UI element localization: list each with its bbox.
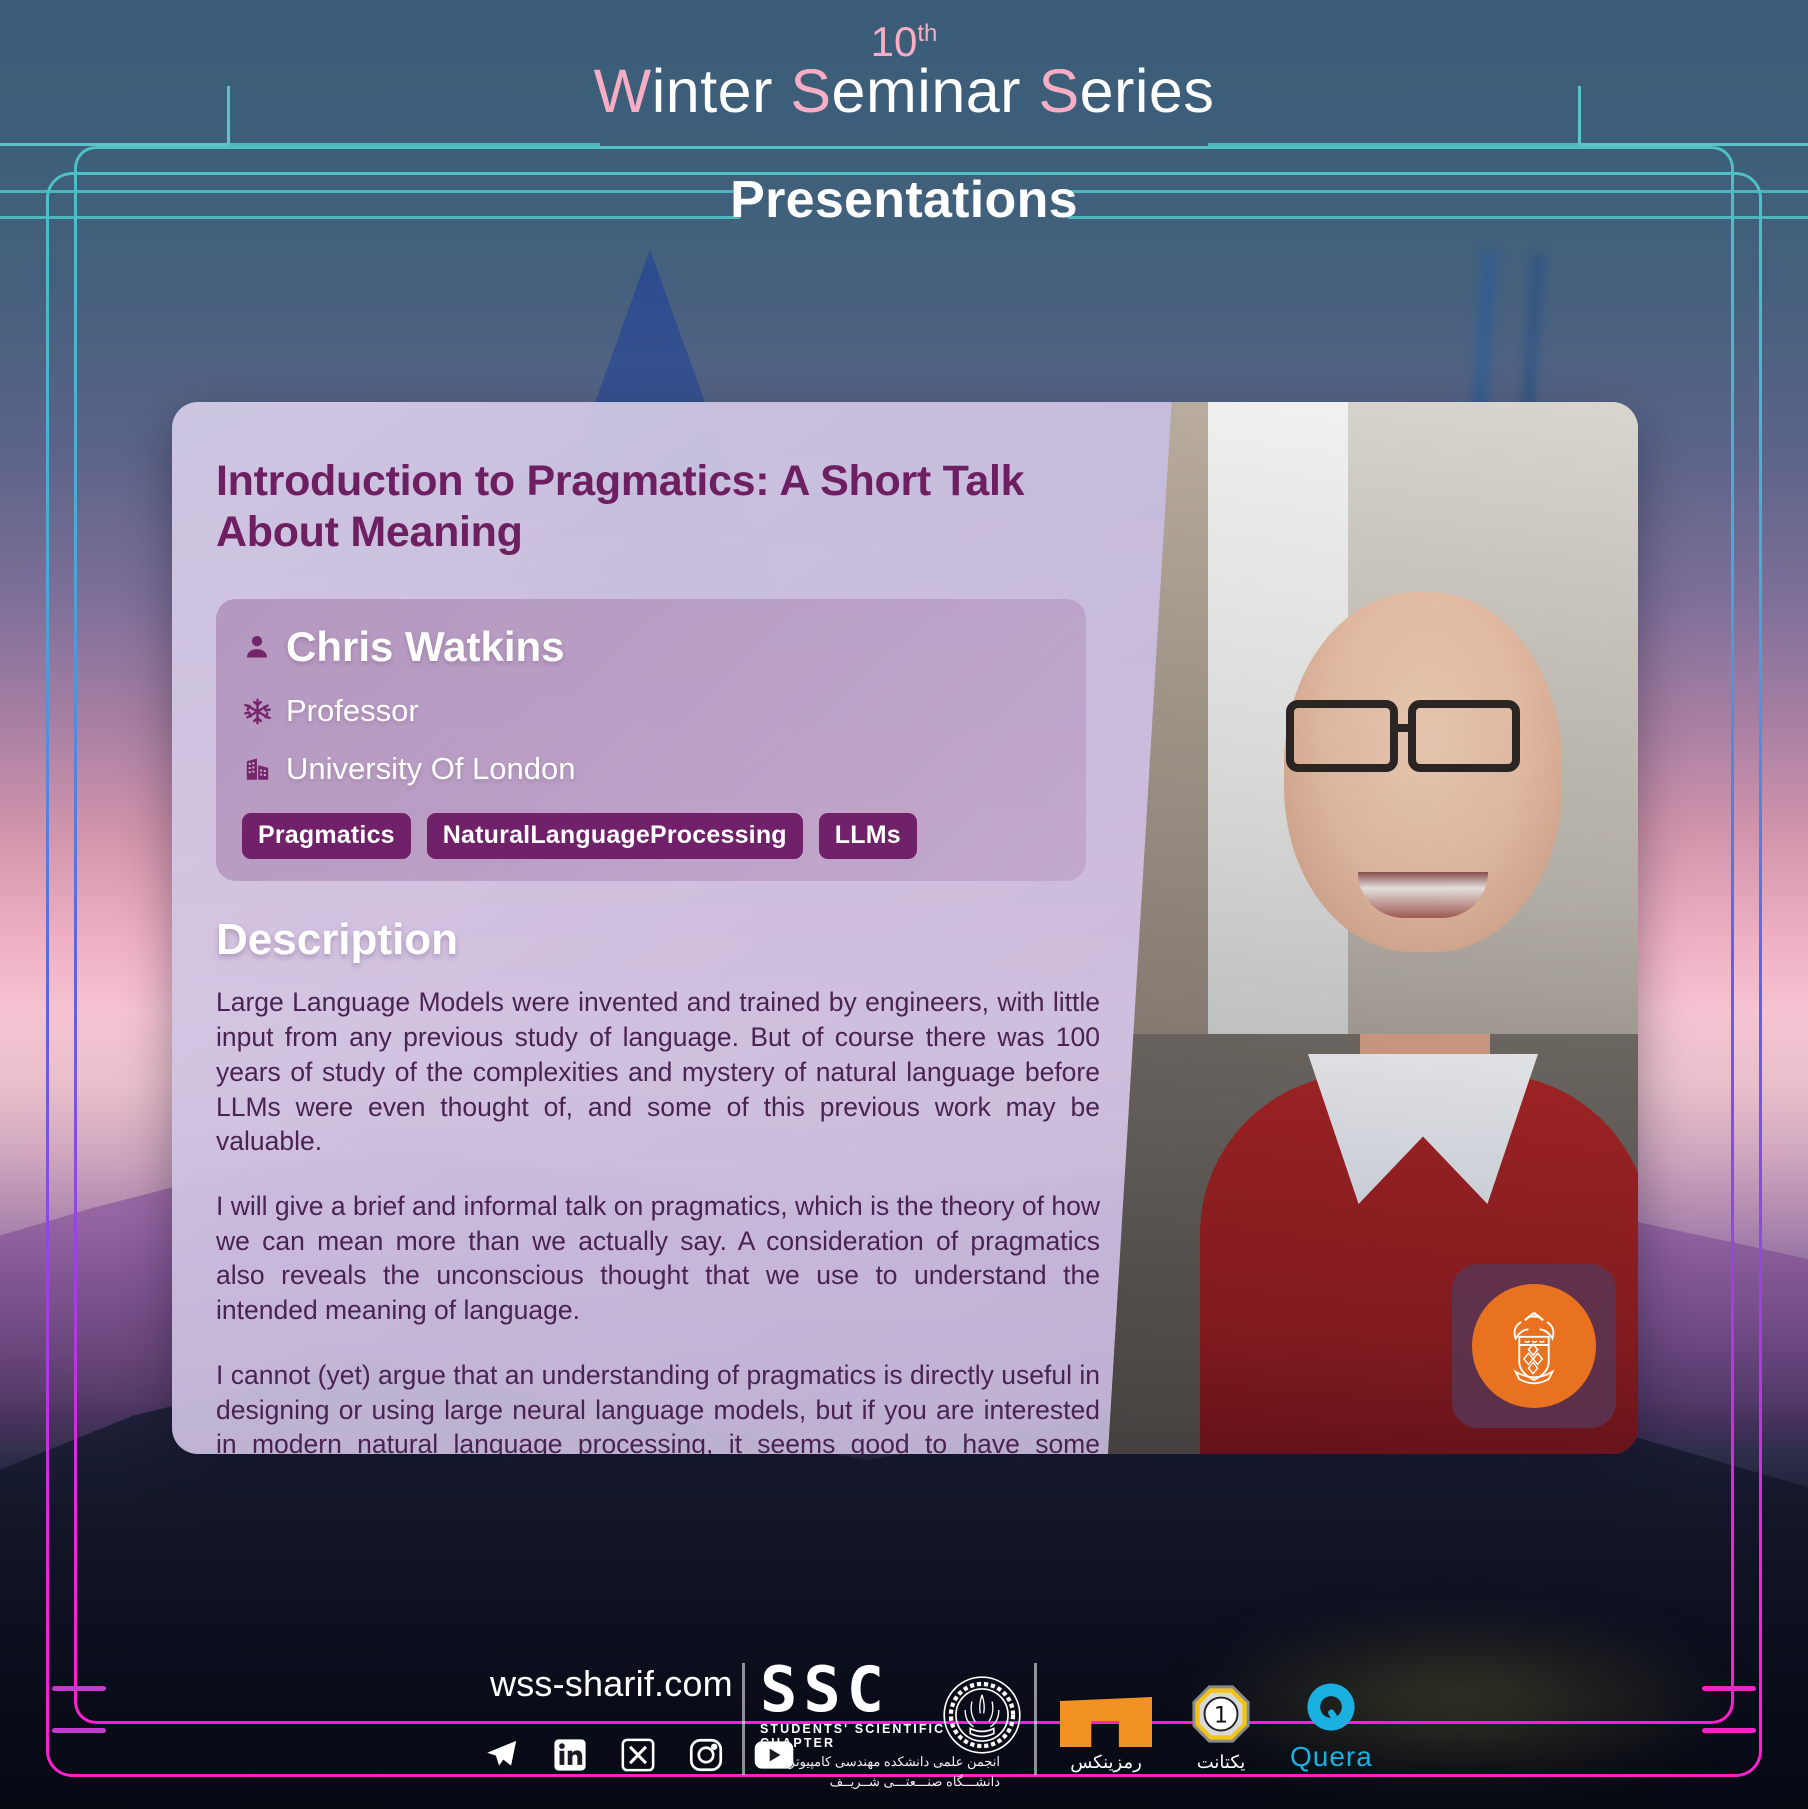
- description-paragraph: I cannot (yet) argue that an understandi…: [216, 1358, 1100, 1454]
- ramzinex-logo[interactable]: رمزینکس: [1060, 1697, 1152, 1773]
- edition-suffix: th: [917, 20, 937, 47]
- section-title: Presentations: [0, 170, 1808, 230]
- presentation-card: Introduction to Pragmatics: A Short Talk…: [172, 402, 1638, 1454]
- speaker-name-row: Chris Watkins: [242, 623, 1060, 671]
- description-heading: Description: [216, 915, 1058, 965]
- quera-mark-icon: [1302, 1678, 1360, 1736]
- description-paragraph: Large Language Models were invented and …: [216, 985, 1100, 1159]
- footer-tick-right-2: [1702, 1728, 1756, 1733]
- yektanet-caption: یکتانت: [1197, 1752, 1246, 1773]
- person-icon: [242, 631, 272, 663]
- svg-text:1: 1: [1214, 1703, 1228, 1729]
- event-title-s2: S: [1038, 57, 1079, 125]
- royal-holloway-crest-icon: [1472, 1284, 1596, 1408]
- institution-badge: [1452, 1264, 1616, 1428]
- ssc-farsi-line-2: دانشـــگاه صنـــعتـــی شــریــف: [760, 1773, 1000, 1791]
- event-title-w: W: [594, 57, 652, 125]
- yektanet-logo[interactable]: 1 یکتانت: [1188, 1681, 1254, 1773]
- event-title-eminar: eminar: [832, 57, 1039, 125]
- poster-footer: wss-sharif.com SSC STUDENTS' SCIENTIFIC …: [0, 1619, 1808, 1809]
- yektanet-mark-icon: 1: [1188, 1681, 1254, 1747]
- social-links: [482, 1735, 794, 1775]
- topic-tag[interactable]: LLMs: [819, 813, 917, 859]
- snowflake-icon: [242, 695, 272, 727]
- footer-divider-1: [742, 1663, 745, 1775]
- section-header: Presentations: [0, 170, 1808, 236]
- linkedin-icon[interactable]: [550, 1735, 590, 1775]
- description-paragraph: I will give a brief and informal talk on…: [216, 1189, 1100, 1328]
- footer-tick-left-2: [52, 1728, 106, 1733]
- topic-tag[interactable]: Pragmatics: [242, 813, 411, 859]
- speaker-name: Chris Watkins: [286, 623, 565, 671]
- footer-divider-2: [1034, 1663, 1037, 1775]
- event-title-s1: S: [790, 57, 831, 125]
- topic-tags: Pragmatics NaturalLanguageProcessing LLM…: [242, 813, 1060, 859]
- poster-root: 10th Winter Seminar Series Presentations…: [0, 0, 1808, 1809]
- talk-title: Introduction to Pragmatics: A Short Talk…: [216, 456, 1056, 557]
- event-title-eries: eries: [1080, 57, 1215, 125]
- quera-logo[interactable]: Quera: [1290, 1678, 1373, 1773]
- speaker-panel: Chris Watkins Professor: [216, 599, 1086, 881]
- ramzinex-caption: رمزینکس: [1070, 1752, 1142, 1773]
- telegram-icon[interactable]: [482, 1735, 522, 1775]
- card-content: Introduction to Pragmatics: A Short Talk…: [172, 402, 1102, 1454]
- website-url[interactable]: wss-sharif.com: [490, 1663, 733, 1705]
- sharif-university-seal-icon: [940, 1673, 1024, 1757]
- quera-caption: Quera: [1290, 1741, 1373, 1773]
- x-twitter-icon[interactable]: [618, 1735, 658, 1775]
- speaker-affiliation: University Of London: [286, 751, 575, 787]
- event-title-inter: inter: [652, 57, 791, 125]
- topic-tag[interactable]: NaturalLanguageProcessing: [427, 813, 803, 859]
- footer-tick-right-1: [1702, 1686, 1756, 1691]
- event-title: Winter Seminar Series: [0, 56, 1808, 126]
- ramzinex-mark-icon: [1060, 1697, 1152, 1747]
- speaker-photo: [1108, 402, 1638, 1454]
- speaker-role: Professor: [286, 693, 419, 729]
- instagram-icon[interactable]: [686, 1735, 726, 1775]
- sponsor-logos: رمزینکس 1 یکتانت: [1060, 1678, 1373, 1773]
- speaker-role-row: Professor: [242, 693, 1060, 729]
- speaker-affiliation-row: University Of London: [242, 751, 1060, 787]
- building-icon: [242, 753, 272, 785]
- footer-tick-left-1: [52, 1686, 106, 1691]
- poster-header: 10th Winter Seminar Series: [0, 0, 1808, 175]
